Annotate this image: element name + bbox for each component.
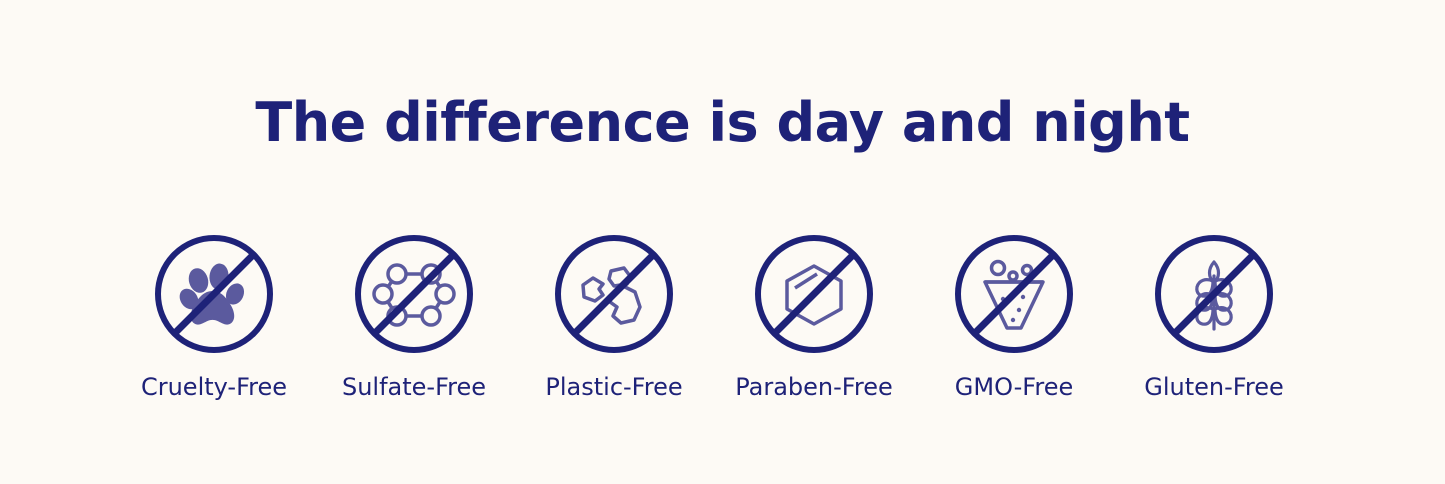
badge-gmo-free: GMO-Free (914, 231, 1114, 401)
badge-label: Plastic-Free (545, 373, 682, 401)
badge-label: Cruelty-Free (141, 373, 287, 401)
badge-sulfate-free: Sulfate-Free (314, 231, 514, 401)
badge-plastic-free: Plastic-Free (514, 231, 714, 401)
no-gluten-icon (1151, 231, 1277, 357)
badge-label: Sulfate-Free (342, 373, 486, 401)
badge-label: Gluten-Free (1144, 373, 1283, 401)
promo-banner: The difference is day and night Cruelty-… (0, 0, 1445, 484)
badge-paraben-free: Paraben-Free (714, 231, 914, 401)
no-plastic-icon (551, 231, 677, 357)
no-animal-testing-paw-icon (151, 231, 277, 357)
no-sulfate-molecule-icon (351, 231, 477, 357)
badge-label: Paraben-Free (735, 373, 892, 401)
page-title: The difference is day and night (0, 92, 1445, 154)
badge-cruelty-free: Cruelty-Free (114, 231, 314, 401)
no-paraben-icon (751, 231, 877, 357)
badge-gluten-free: Gluten-Free (1114, 231, 1314, 401)
badge-label: GMO-Free (955, 373, 1073, 401)
no-gmo-icon (951, 231, 1077, 357)
prohibition-slash (576, 256, 652, 332)
badge-list: Cruelty-Free (114, 231, 1314, 401)
